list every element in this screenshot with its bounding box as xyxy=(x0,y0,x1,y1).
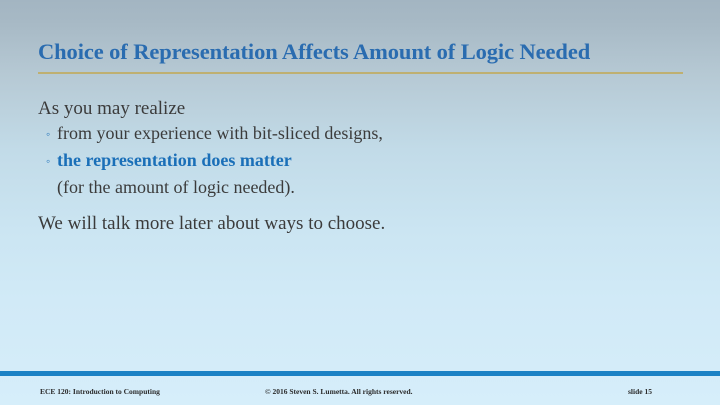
slide-footer: ECE 120: Introduction to Computing © 201… xyxy=(0,386,720,400)
slide-canvas: Choice of Representation Affects Amount … xyxy=(0,0,720,405)
hollow-circle-bullet-icon: ◦ xyxy=(46,122,57,147)
bullet-item-2: ◦ the representation does matter xyxy=(46,148,688,175)
body-intro-line: As you may realize xyxy=(38,96,688,121)
footer-divider-rule xyxy=(0,371,720,376)
slide-title: Choice of Representation Affects Amount … xyxy=(38,38,698,66)
footer-slide-number: slide 15 xyxy=(628,386,652,398)
title-underline-rule xyxy=(38,72,683,74)
hollow-circle-bullet-icon: ◦ xyxy=(46,149,57,174)
bullet-item-2-label: the representation does matter xyxy=(57,148,292,173)
bullet-item-2-continuation: (for the amount of logic needed). xyxy=(57,175,688,199)
bullet-item-1: ◦ from your experience with bit-sliced d… xyxy=(46,121,688,148)
bullet-item-1-label: from your experience with bit-sliced des… xyxy=(57,121,383,146)
slide-body: As you may realize ◦ from your experienc… xyxy=(38,96,688,236)
footer-copyright-label: © 2016 Steven S. Lumetta. All rights res… xyxy=(265,386,413,398)
footer-course-label: ECE 120: Introduction to Computing xyxy=(40,386,160,398)
body-closing-line: We will talk more later about ways to ch… xyxy=(38,211,688,236)
